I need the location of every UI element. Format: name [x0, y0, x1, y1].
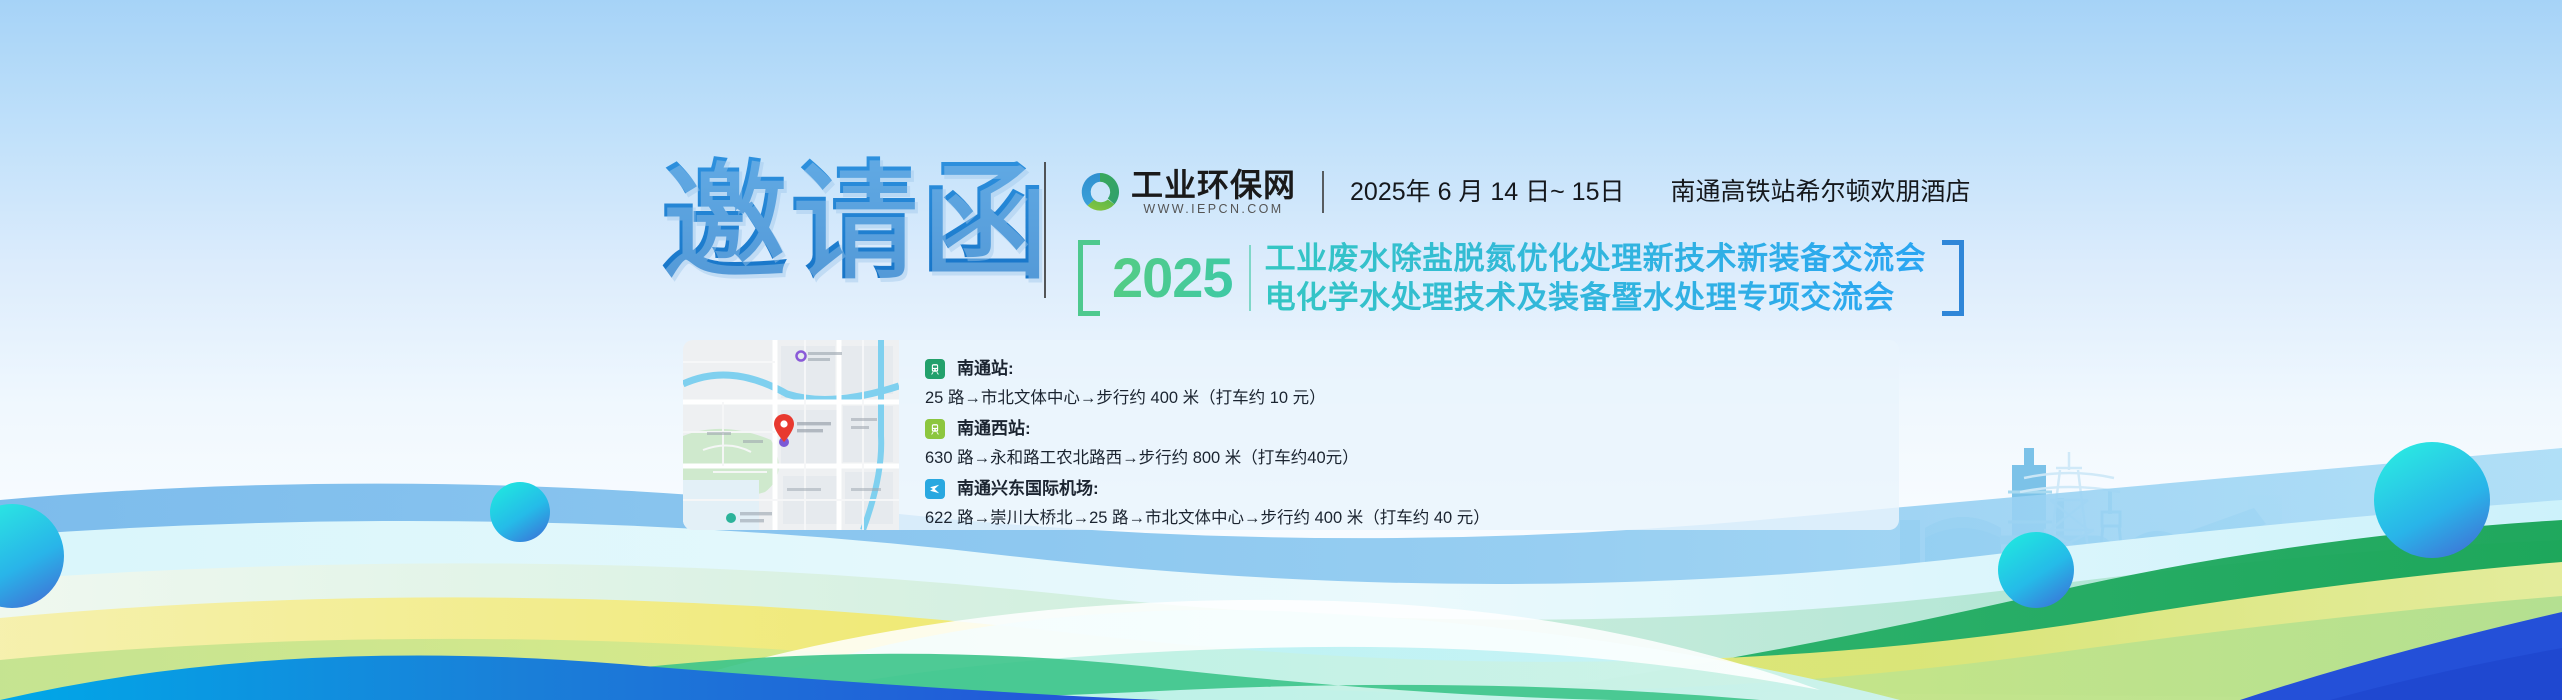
right-bracket-icon	[1942, 240, 1964, 316]
conference-title-line-1: 工业废水除盐脱氮优化处理新技术新装备交流会	[1265, 241, 1927, 277]
decorative-sphere	[2374, 442, 2490, 558]
transport-card: 南通站: 25 路→市北文体中心→步行约 400 米（打车约 10 元）	[683, 340, 1899, 530]
page-title: 邀请函	[660, 148, 1050, 298]
organizer-name: 工业环保网	[1131, 168, 1296, 202]
location-map-thumbnail[interactable]	[683, 340, 899, 530]
invitation-banner: 邀请函	[0, 0, 2562, 700]
ring-logo-icon	[1078, 170, 1122, 214]
route-item: 南通西站: 630 路→永和路工农北路西→步行约 800 米（打车约40元）	[925, 418, 1899, 469]
decorative-sphere	[1998, 532, 2074, 608]
route-item: 南通站: 25 路→市北文体中心→步行约 400 米（打车约 10 元）	[925, 358, 1899, 409]
conference-titles: 工业废水除盐脱氮优化处理新技术新装备交流会 电化学水处理技术及装备暨水处理专项交…	[1265, 241, 1927, 316]
left-bracket-icon	[1078, 240, 1100, 316]
organizer-row: 工业环保网 WWW.IEPCN.COM 2025年 6 月 14 日~ 15日 …	[1078, 166, 1971, 218]
title-divider	[1249, 245, 1251, 311]
route-detail: 622 路→崇川大桥北→25 路→市北文体中心→步行约 400 米（打车约 40…	[925, 507, 1899, 529]
route-detail: 25 路→市北文体中心→步行约 400 米（打车约 10 元）	[925, 387, 1899, 409]
route-list: 南通站: 25 路→市北文体中心→步行约 400 米（打车约 10 元）	[899, 340, 1899, 530]
route-name: 南通西站:	[957, 419, 1031, 439]
decorative-sphere	[490, 482, 550, 542]
train-icon	[925, 359, 945, 379]
organizer-website: WWW.IEPCN.COM	[1131, 202, 1296, 217]
route-name: 南通站:	[957, 359, 1014, 379]
event-venue: 南通高铁站希尔顿欢朋酒店	[1670, 177, 1970, 207]
year-badge: 2025	[1112, 240, 1233, 316]
headline-divider	[1044, 162, 1046, 298]
meta-divider	[1322, 171, 1324, 213]
conference-title-line-2: 电化学水处理技术及装备暨水处理专项交流会	[1265, 280, 1927, 316]
train-icon	[925, 419, 945, 439]
route-name: 南通兴东国际机场:	[957, 479, 1099, 499]
event-date: 2025年 6 月 14 日~ 15日	[1350, 177, 1624, 207]
organizer-logo-text: 工业环保网 WWW.IEPCN.COM	[1131, 168, 1296, 217]
airplane-icon	[925, 479, 945, 499]
headline-block: 邀请函	[660, 148, 1920, 338]
route-detail: 630 路→永和路工农北路西→步行约 800 米（打车约40元）	[925, 447, 1899, 469]
conference-title-block: 2025 工业废水除盐脱氮优化处理新技术新装备交流会 电化学水处理技术及装备暨水…	[1078, 232, 1964, 324]
route-item: 南通兴东国际机场: 622 路→崇川大桥北→25 路→市北文体中心→步行约 40…	[925, 478, 1899, 529]
